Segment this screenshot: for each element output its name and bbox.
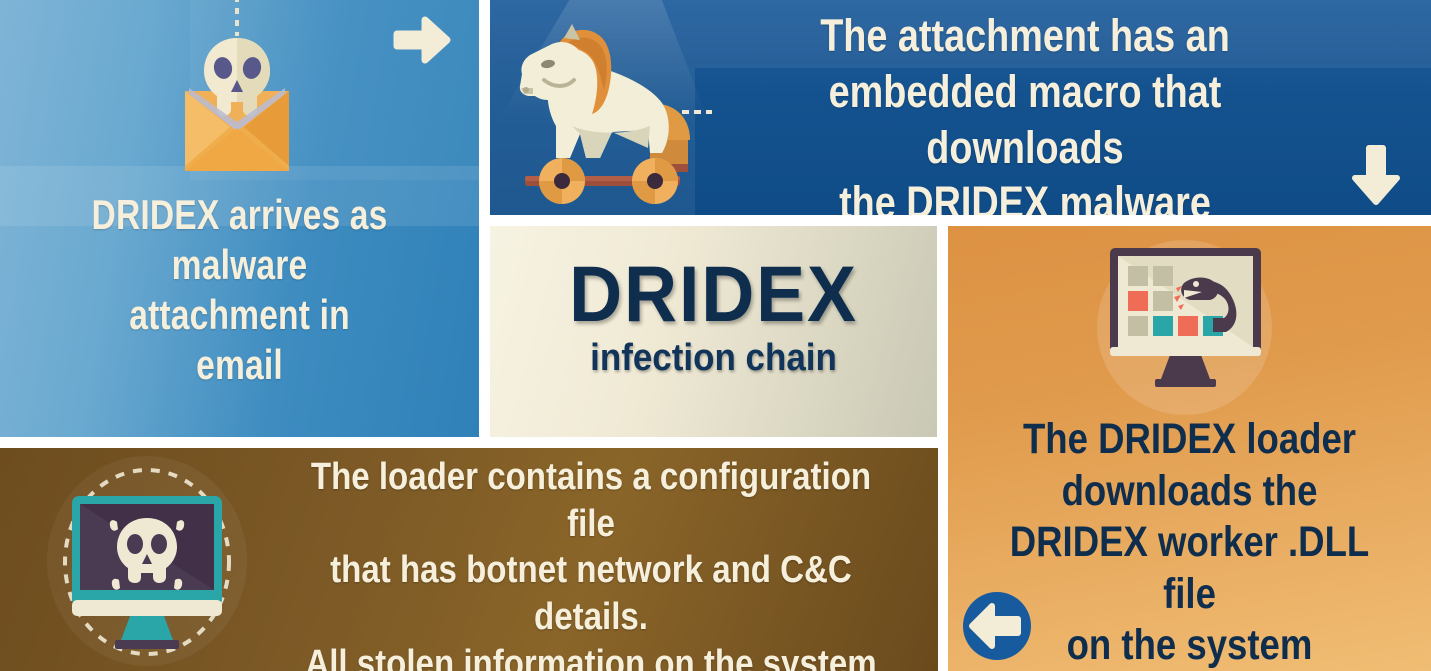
panel-title-card: DRIDEX infection chain [490,226,937,437]
panel-loader-download: The DRIDEX loader downloads the DRIDEX w… [948,226,1431,671]
panel-trojan-macro: The attachment has an embedded macro tha… [490,0,1431,215]
monitor-skull-icon [47,460,247,665]
arrow-down-icon [1349,144,1403,206]
panel-cc-config: The loader contains a configuration file… [0,448,938,671]
panel-email-arrival: DRIDEX arrives as malware attachment in … [0,0,479,437]
monitor-snake-icon [1098,242,1273,407]
page-subtitle: infection chain [508,339,919,379]
title-card-inner: DRIDEX infection chain [490,254,937,379]
panel-loader-caption: The DRIDEX loader downloads the DRIDEX w… [994,414,1384,671]
trojan-dashed-connector [682,110,712,114]
panel-trojan-caption: The attachment has an embedded macro tha… [756,8,1294,215]
panel-email-caption: DRIDEX arrives as malware attachment in … [67,190,412,390]
envelope-skull-icon [167,0,307,181]
dridex-infection-chain-infographic: DRIDEX arrives as malware attachment in … [0,0,1431,671]
panel-cc-caption: The loader contains a configuration file… [301,454,880,671]
page-title: DRIDEX [506,254,922,333]
trojan-horse-icon [500,8,705,208]
arrow-left-circle-icon [960,589,1034,663]
arrow-right-icon [393,14,451,66]
